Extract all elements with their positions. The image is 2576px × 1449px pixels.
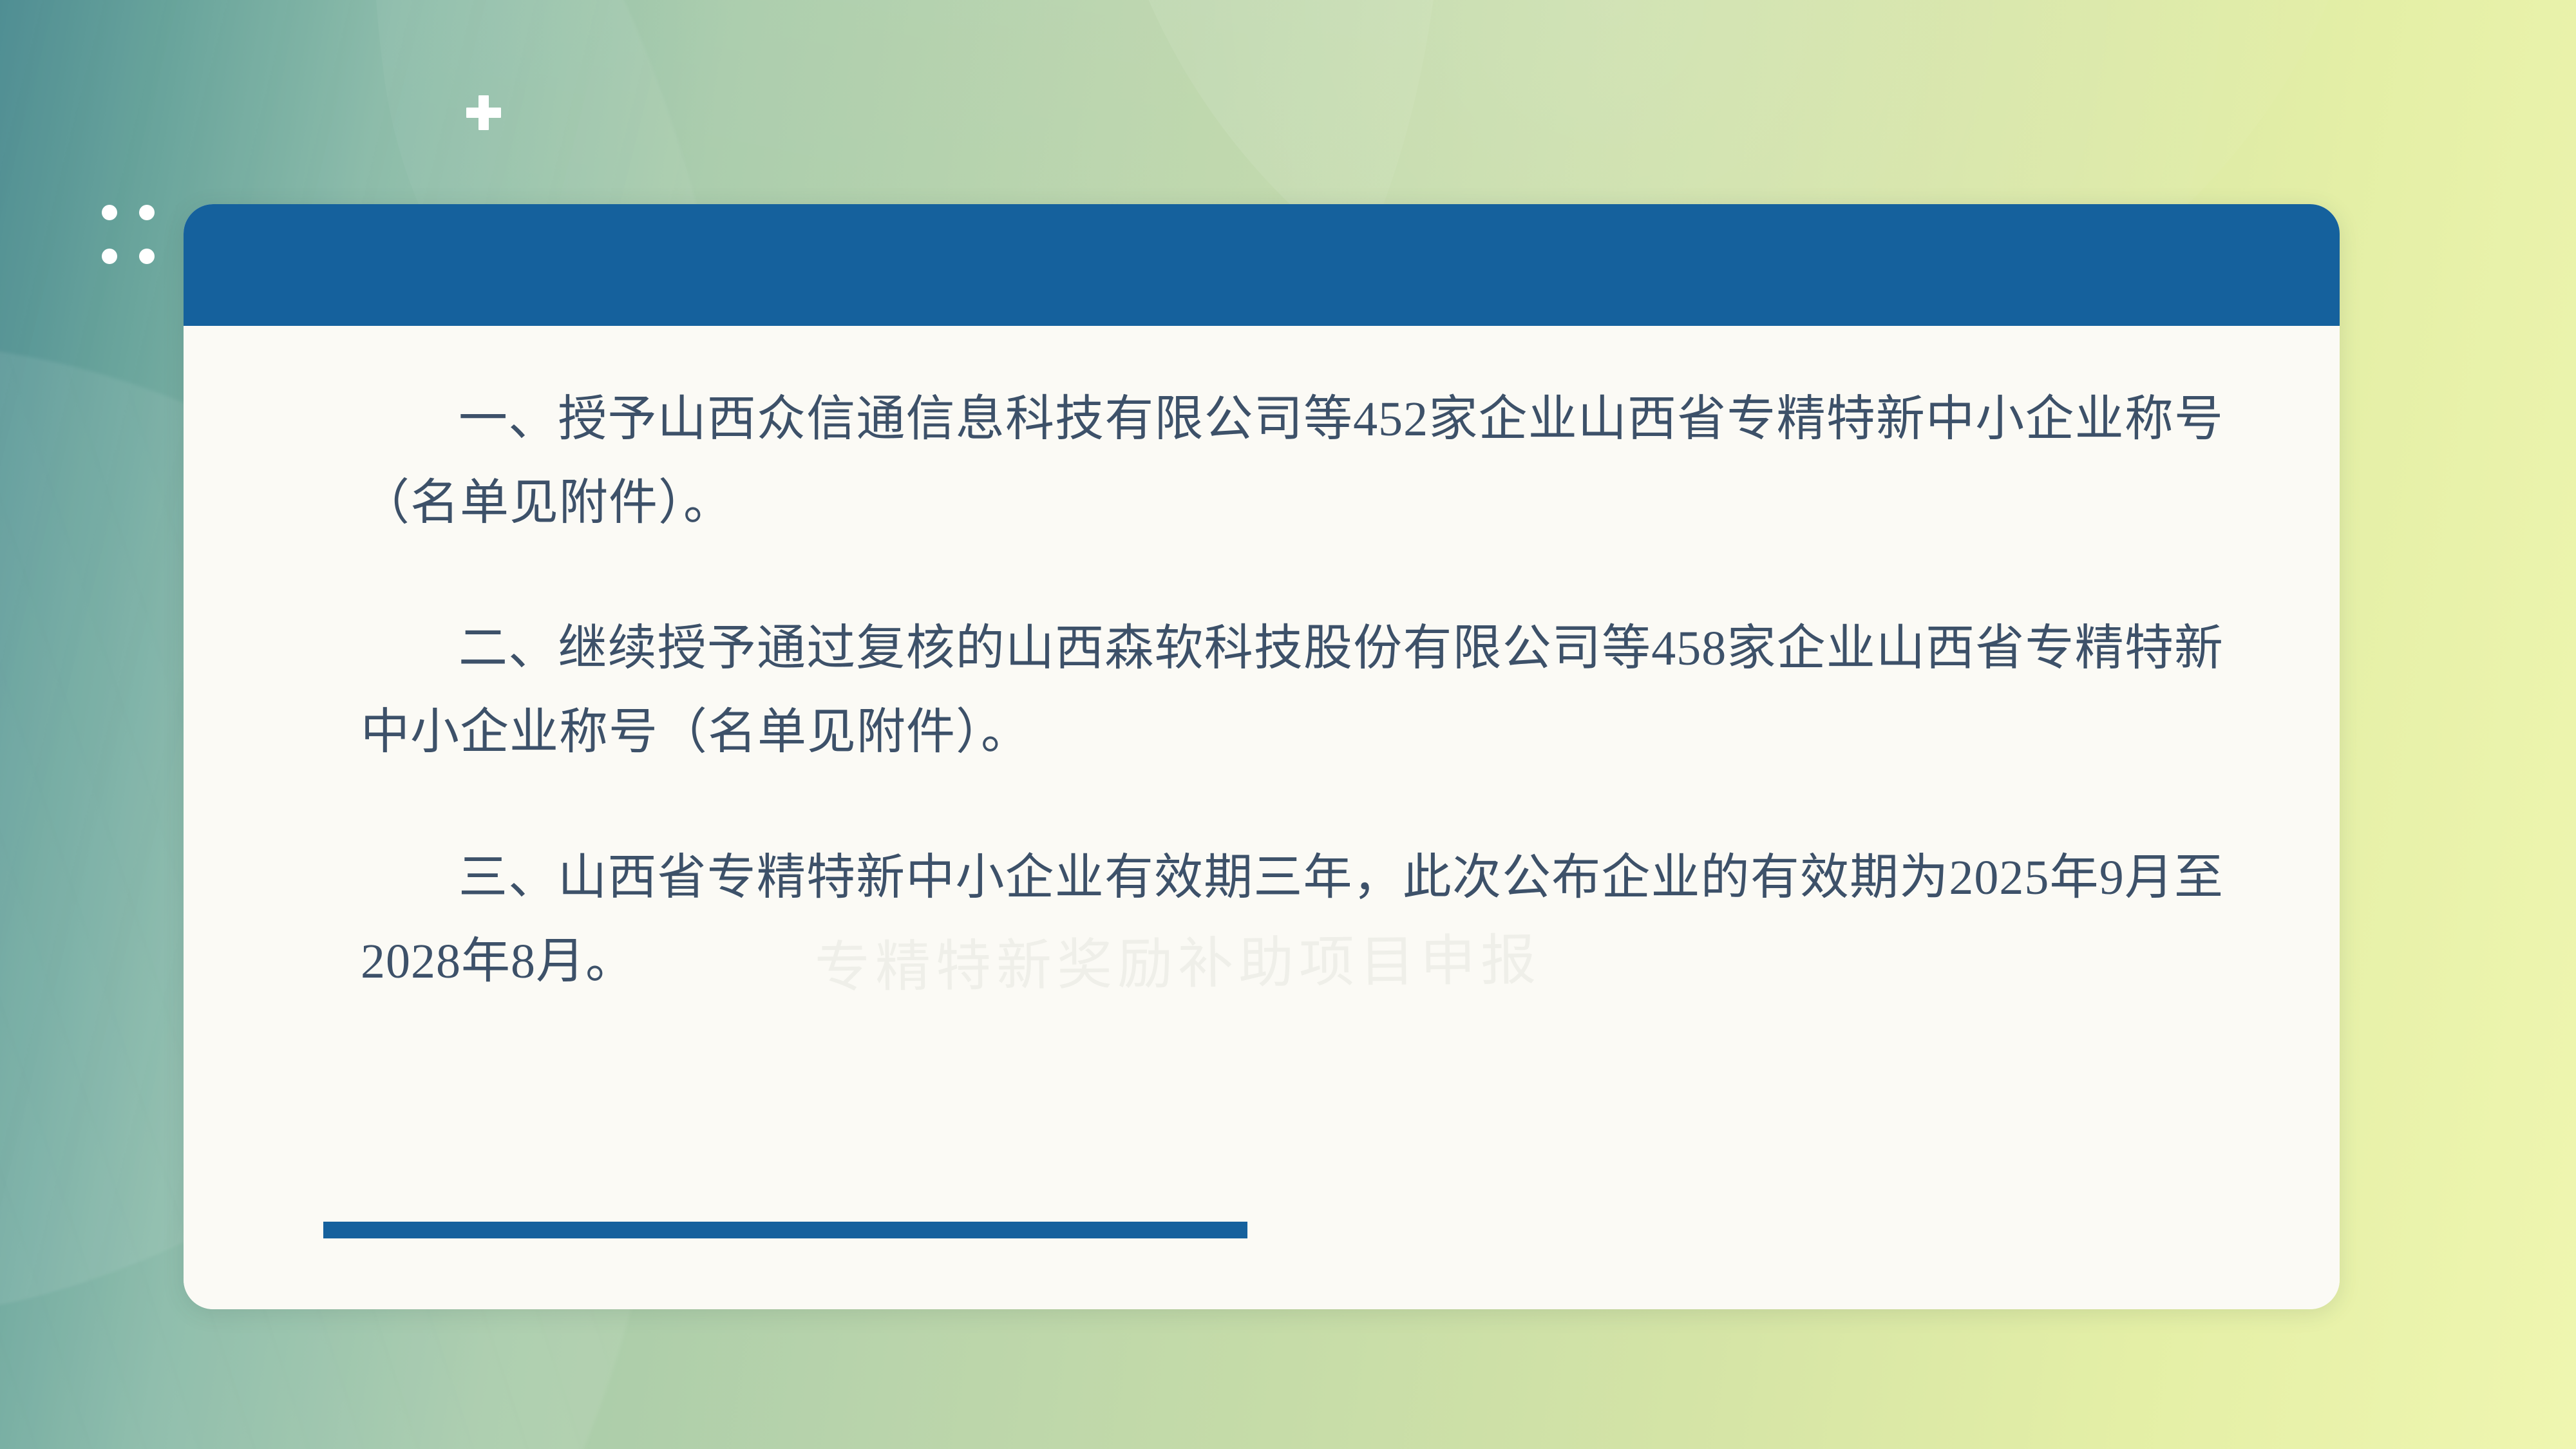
document-paragraph: 三、山西省专精特新中小企业有效期三年，此次公布企业的有效期为2025年9月至20… bbox=[361, 836, 2224, 1003]
card-body: 专精特新奖励补助项目申报 一、授予山西众信通信息科技有限公司等452家企业山西省… bbox=[184, 326, 2340, 1309]
slide-canvas: 专精特新奖励补助项目申报 一、授予山西众信通信息科技有限公司等452家企业山西省… bbox=[0, 0, 2576, 1449]
plus-icon bbox=[466, 95, 501, 130]
dot-icon bbox=[102, 249, 117, 264]
document-text-block: 一、授予山西众信通信息科技有限公司等452家企业山西省专精特新中小企业称号（名单… bbox=[361, 377, 2224, 1003]
dot-icon bbox=[139, 249, 155, 264]
dot-icon bbox=[139, 205, 155, 220]
bottom-accent-rule bbox=[323, 1222, 1247, 1238]
document-paragraph: 一、授予山西众信通信息科技有限公司等452家企业山西省专精特新中小企业称号（名单… bbox=[361, 377, 2224, 545]
dot-icon bbox=[102, 205, 117, 220]
card-header-bar bbox=[184, 204, 2340, 326]
dot-grid-icon bbox=[102, 205, 169, 272]
document-paragraph: 二、继续授予通过复核的山西森软科技股份有限公司等458家企业山西省专精特新中小企… bbox=[361, 607, 2224, 774]
content-card: 专精特新奖励补助项目申报 一、授予山西众信通信息科技有限公司等452家企业山西省… bbox=[184, 204, 2340, 1309]
